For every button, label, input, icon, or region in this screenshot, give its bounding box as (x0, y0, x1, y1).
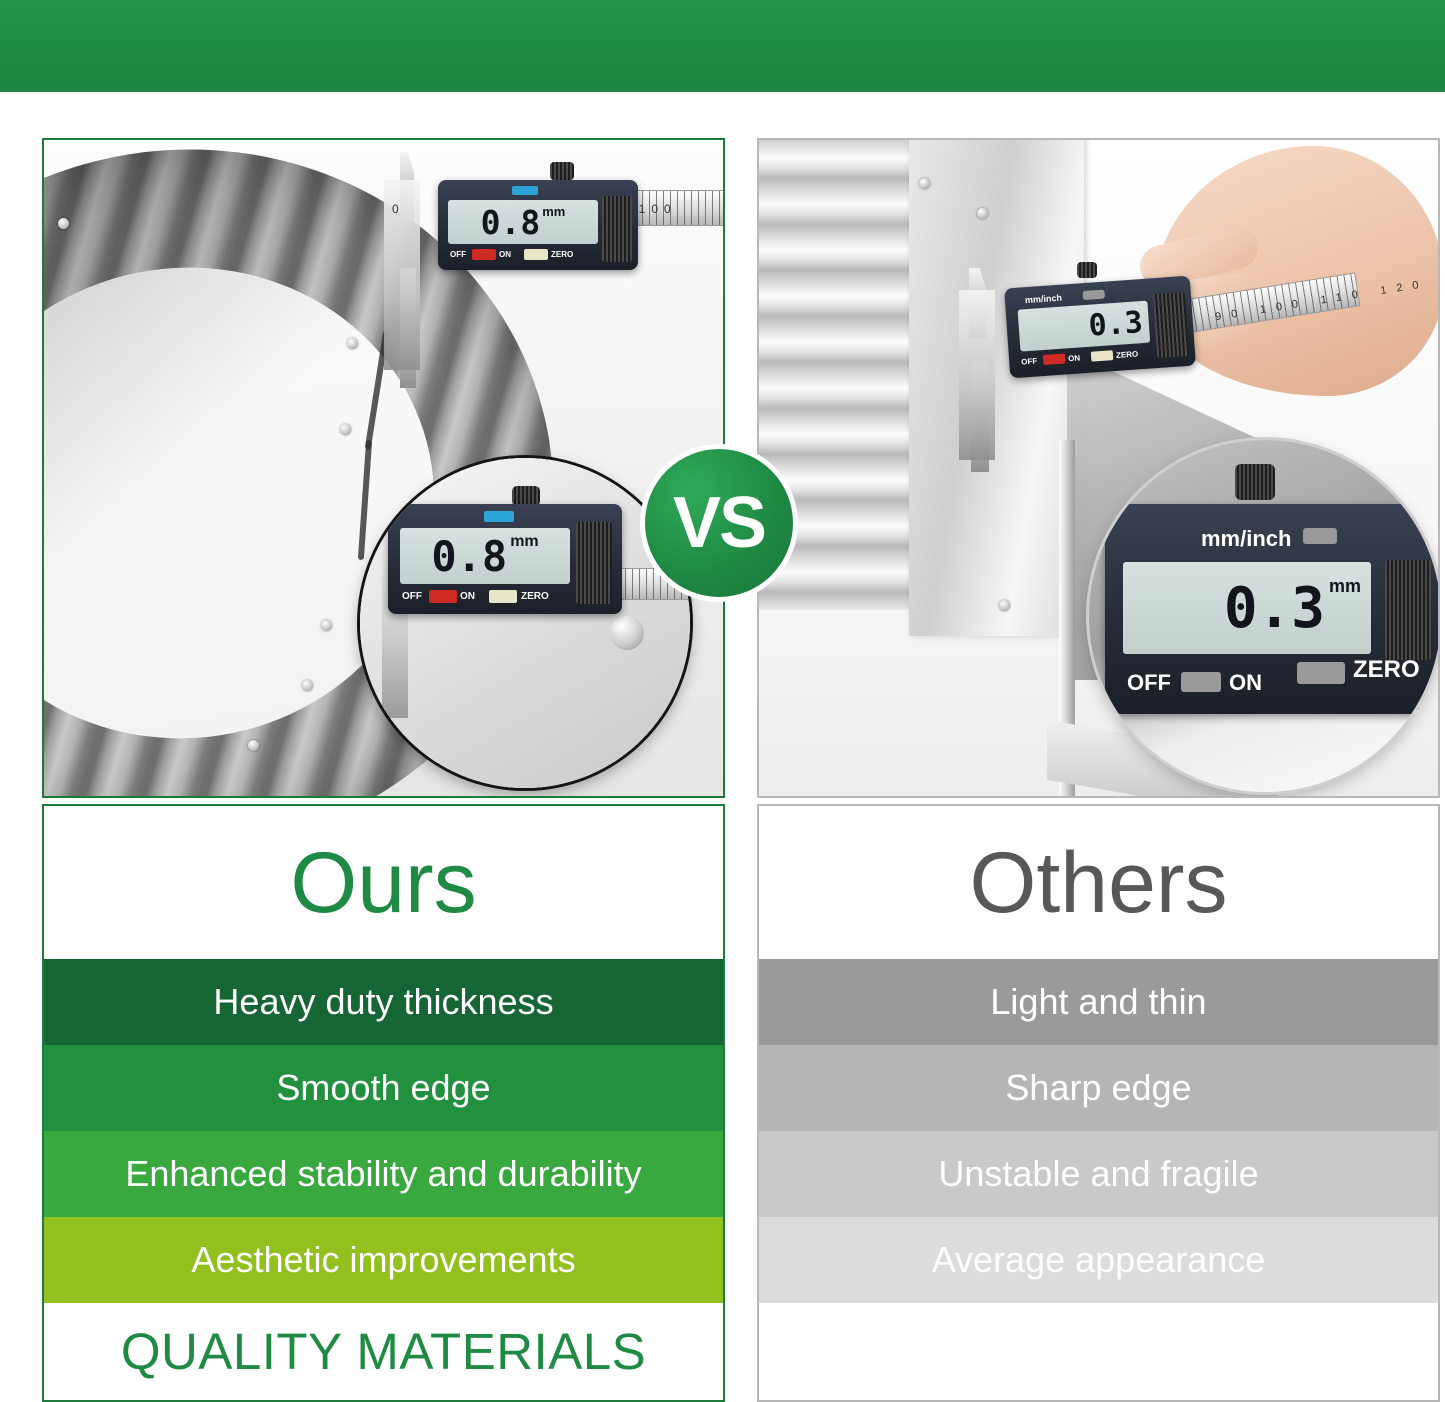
others-caliper-body: mm/inch 0.3 OFF ON ZERO (1004, 276, 1196, 379)
ring-bolt (248, 740, 259, 751)
others-photo-frame: 80 90 100 110 120 mm/inch 0.3 OFF ON (757, 138, 1440, 798)
ring-bolt (321, 620, 332, 631)
magnified-grip-ridges (576, 522, 612, 604)
feature-row: Heavy duty thickness (44, 959, 723, 1045)
ours-title: Ours (290, 840, 476, 926)
magnified-unit-label: mm (510, 533, 538, 551)
caliper-body: 0.8 mm OFF ON ZERO (438, 180, 638, 270)
ring-bolt (340, 424, 351, 435)
feature-row: Enhanced stability and durability (44, 1131, 723, 1217)
caliper-reading-value: 0.8 (481, 203, 541, 242)
feature-label: Heavy duty thickness (213, 981, 553, 1023)
feature-row: Aesthetic improvements (44, 1217, 723, 1303)
caliper-on-label: ON (499, 250, 511, 259)
caliper-zero-switch (524, 249, 548, 260)
magnified-others-zero-switch (1297, 662, 1345, 684)
others-power-switch (1043, 354, 1066, 366)
magnified-off-label: OFF (402, 591, 422, 602)
others-feature-list: Light and thin Sharp edge Unstable and f… (757, 959, 1440, 1303)
ours-title-box: Ours (42, 804, 725, 959)
panel-bolt (999, 600, 1010, 611)
feature-label: Average appearance (932, 1239, 1266, 1281)
caliper-unit-label: mm (542, 204, 565, 219)
magnified-power-switch (429, 590, 457, 603)
feature-label: Sharp edge (1005, 1067, 1191, 1109)
feature-row: Unstable and fragile (759, 1131, 1438, 1217)
comparison-stage: 90 100 110 0 0.8 mm OFF ON (0, 92, 1445, 1402)
caliper-zero-label: ZERO (551, 250, 573, 259)
ours-footer-box: QUALITY MATERIALS (42, 1303, 725, 1402)
magnified-on-label: ON (460, 591, 475, 602)
magnified-zero-label: ZERO (521, 591, 549, 602)
others-product-photo: 80 90 100 110 120 mm/inch 0.3 OFF ON (759, 140, 1438, 796)
others-caliper-slide-arm (959, 290, 995, 460)
ours-product-photo: 90 100 110 0 0.8 mm OFF ON (44, 140, 723, 796)
magnified-others-caliper-body: mm/inch 0.3 mm OFF ON ZERO (1105, 504, 1440, 714)
feature-label: Enhanced stability and durability (125, 1153, 641, 1195)
others-off-label: OFF (1021, 356, 1038, 366)
ours-photo-frame: 90 100 110 0 0.8 mm OFF ON (42, 138, 725, 798)
ring-bolt (302, 680, 313, 691)
magnified-lcd-display: 0.8 mm (400, 528, 570, 584)
feature-label: Aesthetic improvements (191, 1239, 575, 1281)
magnified-blue-tab (484, 511, 514, 522)
panel-bolt (919, 178, 930, 189)
feature-row: Average appearance (759, 1217, 1438, 1303)
magnified-others-power-switch (1181, 672, 1221, 692)
ours-panel: 90 100 110 0 0.8 mm OFF ON (42, 138, 725, 1402)
thin-panel-face (909, 138, 1084, 636)
others-panel: 80 90 100 110 120 mm/inch 0.3 OFF ON (757, 138, 1440, 1402)
magnified-others-lock-screw (1235, 464, 1275, 500)
vs-label: VS (673, 487, 765, 559)
magnified-others-on-label: ON (1229, 670, 1262, 696)
ring-bolt (58, 218, 69, 229)
others-grip-ridges (1153, 292, 1189, 358)
others-lcd-display: 0.3 (1018, 301, 1151, 352)
feature-label: Smooth edge (276, 1067, 490, 1109)
others-mode-label: mm/inch (1025, 293, 1063, 306)
feature-row: Light and thin (759, 959, 1438, 1045)
ring-bolt (347, 338, 358, 349)
magnified-zero-switch (489, 590, 517, 603)
caliper-lcd-display: 0.8 mm (448, 200, 598, 244)
caliper-power-switch (472, 249, 496, 260)
caliper-off-label: OFF (450, 250, 466, 259)
feature-label: Light and thin (990, 981, 1206, 1023)
magnified-others-mode-label: mm/inch (1201, 526, 1291, 552)
others-footer-box (757, 1303, 1440, 1402)
others-zero-switch (1091, 350, 1114, 362)
others-mode-switch (1082, 290, 1105, 301)
others-zero-label: ZERO (1116, 349, 1139, 360)
top-green-band (0, 0, 1445, 92)
others-reading-value: 0.3 (1087, 305, 1143, 344)
magnified-others-unit-label: mm (1329, 576, 1361, 597)
feature-row: Smooth edge (44, 1045, 723, 1131)
others-title-box: Others (757, 804, 1440, 959)
ours-feature-list: Heavy duty thickness Smooth edge Enhance… (42, 959, 725, 1303)
magnified-others-off-label: OFF (1127, 670, 1171, 696)
others-title: Others (969, 840, 1227, 926)
magnified-thumb-roller (610, 616, 644, 650)
caliper-grip-ridges (602, 196, 632, 262)
caliper-blue-tab (512, 186, 538, 195)
panel-bolt (977, 208, 988, 219)
feature-row: Sharp edge (759, 1045, 1438, 1131)
magnified-caliper-body: 0.8 mm OFF ON ZERO (388, 504, 622, 614)
magnified-others-mode-switch (1303, 528, 1337, 544)
caliper-ruler-origin: 0 (392, 202, 405, 216)
magnified-others-grip-ridges (1385, 560, 1431, 660)
vs-badge: VS (640, 444, 798, 602)
magnified-reading-value: 0.8 (431, 532, 507, 581)
quality-materials-label: QUALITY MATERIALS (121, 1322, 646, 1381)
magnified-others-lcd-display: 0.3 mm (1123, 562, 1371, 654)
others-lock-screw (1077, 262, 1097, 278)
magnified-others-zero-label: ZERO (1353, 656, 1420, 684)
feature-label: Unstable and fragile (938, 1153, 1258, 1195)
others-magnifier-inset: mm/inch 0.3 mm OFF ON ZERO (1089, 440, 1440, 792)
magnified-others-reading-value: 0.3 (1224, 576, 1325, 641)
caliper-lock-screw (550, 162, 574, 180)
magnified-lock-screw (512, 486, 540, 506)
others-on-label: ON (1068, 353, 1081, 363)
